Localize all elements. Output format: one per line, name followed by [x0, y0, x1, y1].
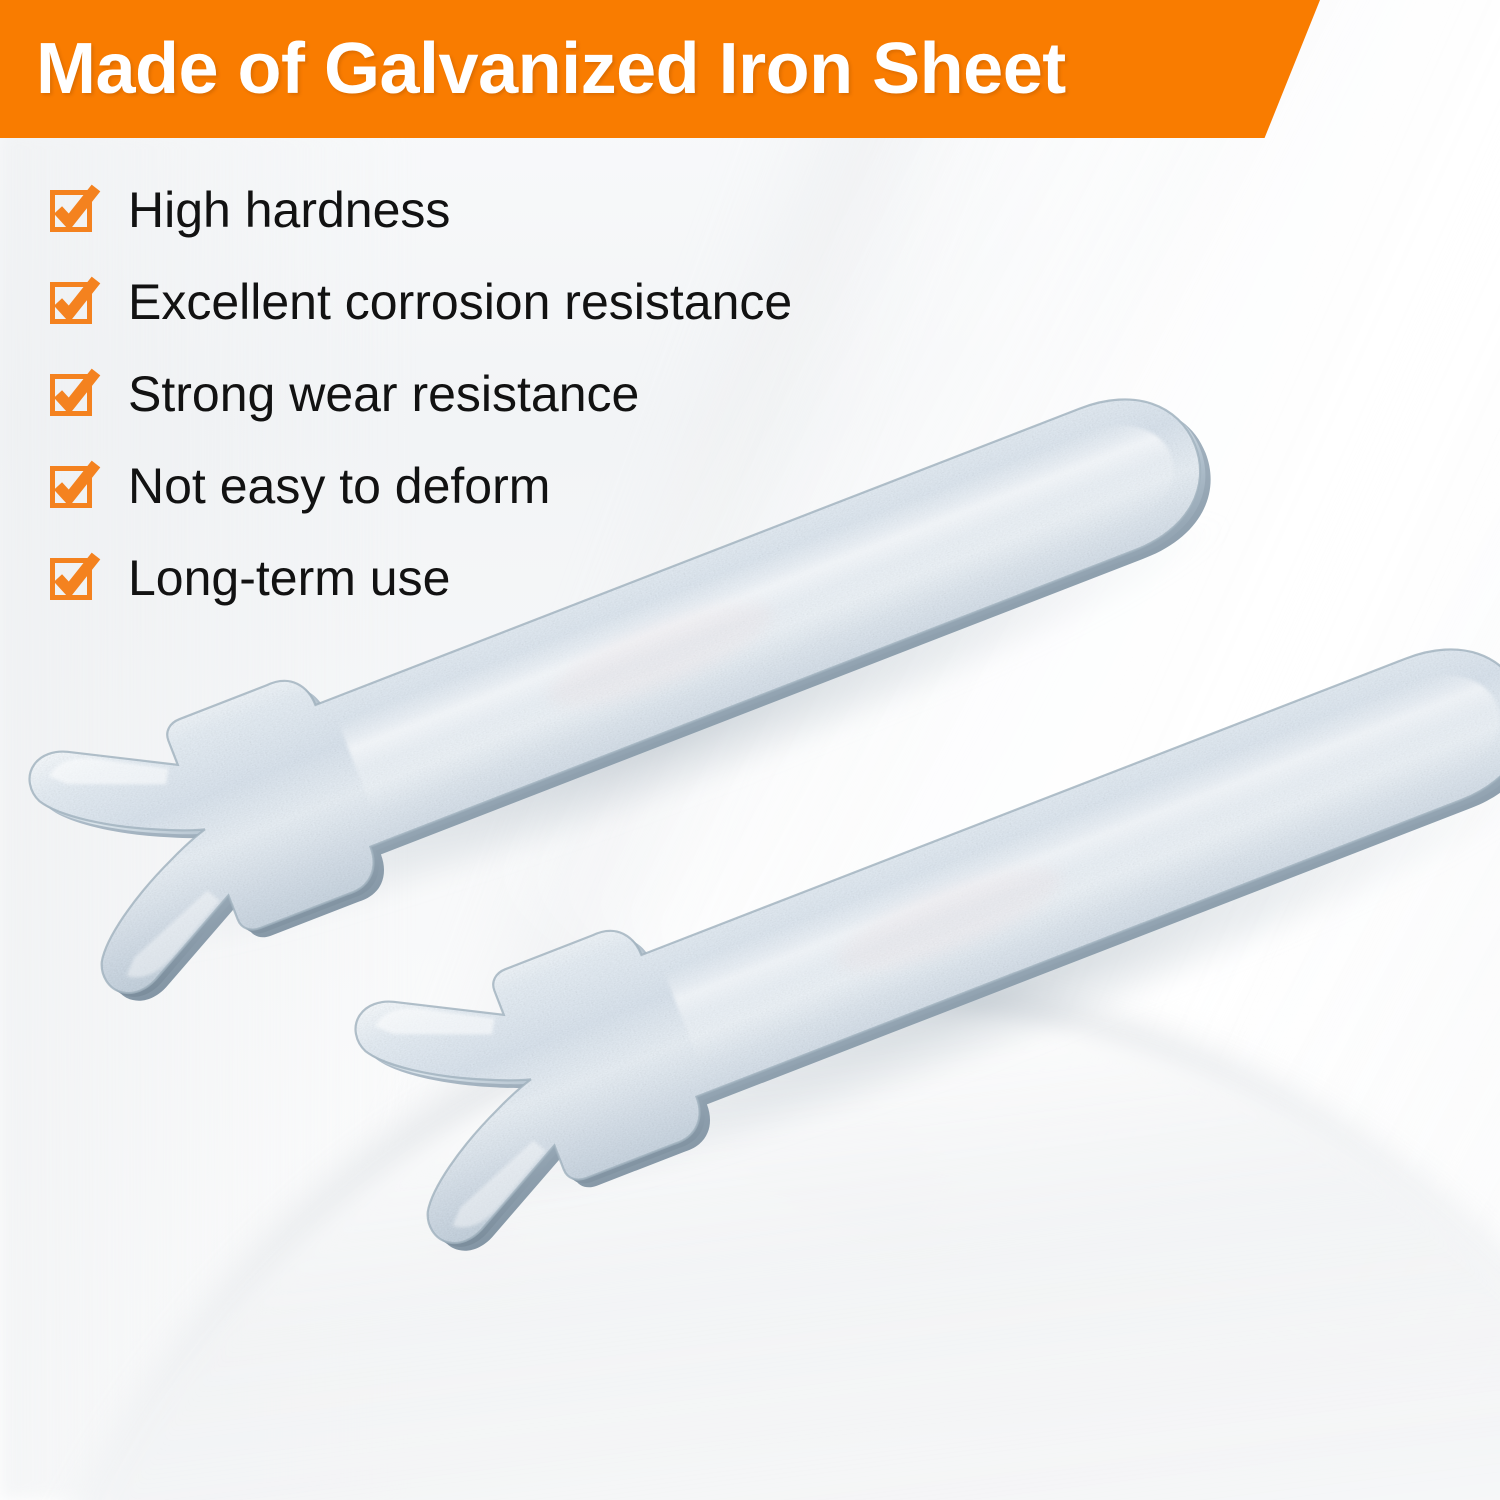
banner-title: Made of Galvanized Iron Sheet — [36, 33, 1066, 105]
list-item: Long-term use — [48, 544, 792, 612]
checkbox-checked-icon — [48, 184, 100, 236]
list-item: Not easy to deform — [48, 452, 792, 520]
feature-label: Long-term use — [128, 553, 450, 603]
list-item: Excellent corrosion resistance — [48, 268, 792, 336]
checkbox-checked-icon — [48, 368, 100, 420]
feature-label: Strong wear resistance — [128, 369, 639, 419]
checkbox-checked-icon — [48, 552, 100, 604]
product-feature-image: Made of Galvanized Iron Sheet High hardn… — [0, 0, 1500, 1500]
feature-label: High hardness — [128, 185, 450, 235]
feature-label: Excellent corrosion resistance — [128, 277, 792, 327]
header-banner: Made of Galvanized Iron Sheet — [0, 0, 1320, 138]
checkbox-checked-icon — [48, 276, 100, 328]
feature-label: Not easy to deform — [128, 461, 550, 511]
feature-list: High hardness Excellent corrosion resist… — [48, 176, 792, 636]
list-item: Strong wear resistance — [48, 360, 792, 428]
list-item: High hardness — [48, 176, 792, 244]
checkbox-checked-icon — [48, 460, 100, 512]
